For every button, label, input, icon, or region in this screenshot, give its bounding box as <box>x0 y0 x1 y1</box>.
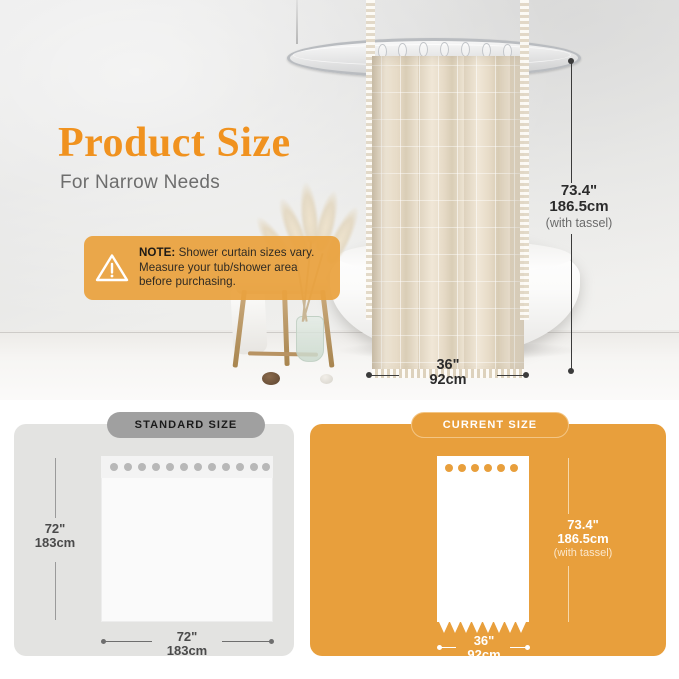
hero-width-inches: 36" <box>398 358 498 373</box>
grommet-icon <box>497 464 505 472</box>
note-text: NOTE: Shower curtain sizes vary. Measure… <box>139 246 330 290</box>
grommet-icon <box>445 464 453 472</box>
tassel-icon <box>505 622 515 633</box>
curtain-ring <box>419 42 428 57</box>
pebble <box>320 374 333 384</box>
grommet-icon <box>208 463 216 471</box>
curtain-ring <box>461 42 470 57</box>
current-height-line <box>568 458 569 514</box>
current-width-inches: 36" <box>455 634 513 648</box>
standard-width-line <box>222 641 270 642</box>
page-title: Product Size <box>58 119 291 167</box>
tassel-icon <box>494 622 504 633</box>
standard-height-line <box>55 562 56 620</box>
hero-width-cm: 92cm <box>398 373 498 388</box>
grommet-icon <box>166 463 174 471</box>
tassel-icon <box>516 622 526 633</box>
tassel-icon <box>461 622 471 633</box>
current-size-badge: CURRENT SIZE <box>411 412 569 438</box>
standard-width-label: 72" 183cm <box>154 630 220 658</box>
grommet-icon <box>194 463 202 471</box>
current-curtain-diagram <box>437 456 529 622</box>
standard-size-badge: STANDARD SIZE <box>107 412 265 438</box>
tassel-icon <box>483 622 493 633</box>
tassel-icon <box>472 622 482 633</box>
glass-vase <box>296 316 324 362</box>
current-height-label: 73.4" 186.5cm (with tassel) <box>528 518 638 560</box>
grommet-icon <box>180 463 188 471</box>
grommet-icon <box>138 463 146 471</box>
pinecone <box>262 372 280 385</box>
note-label: NOTE: <box>139 246 175 259</box>
grommet-icon <box>124 463 132 471</box>
height-measure-line <box>571 61 572 183</box>
grommet-icon <box>458 464 466 472</box>
hero-height-cm: 186.5cm <box>518 199 640 215</box>
hero-height-inches: 73.4" <box>518 183 640 199</box>
curtain-ring <box>440 42 449 57</box>
grommet-icon <box>484 464 492 472</box>
standard-curtain-diagram <box>101 456 273 622</box>
standard-width-inches: 72" <box>154 630 220 644</box>
measure-endpoint-dot <box>568 368 574 374</box>
hero-height-qualifier: (with tassel) <box>518 215 640 231</box>
standard-height-inches: 72" <box>22 522 88 536</box>
current-height-inches: 73.4" <box>528 518 638 532</box>
standard-height-label: 72" 183cm <box>22 522 88 550</box>
floor-wall-line <box>0 332 679 333</box>
measure-endpoint-dot <box>525 645 530 650</box>
warning-triangle-icon <box>94 252 130 284</box>
grommet-icon <box>110 463 118 471</box>
current-height-qualifier: (with tassel) <box>528 546 638 560</box>
measure-endpoint-dot <box>269 639 274 644</box>
hero-photo-scene: 73.4" 186.5cm (with tassel) 36" 92cm Pro… <box>0 0 679 400</box>
curtain-fringe-right <box>520 0 529 320</box>
grommet-icon <box>510 464 518 472</box>
height-measure-line <box>571 234 572 370</box>
width-measure-line <box>369 375 399 376</box>
measure-endpoint-dot <box>523 372 529 378</box>
current-height-line <box>568 566 569 622</box>
width-measure-line <box>497 375 525 376</box>
grommet-icon <box>236 463 244 471</box>
hero-height-label: 73.4" 186.5cm (with tassel) <box>518 183 640 231</box>
tassel-icon <box>450 622 460 633</box>
product-size-infographic: 73.4" 186.5cm (with tassel) 36" 92cm Pro… <box>0 0 679 679</box>
current-height-cm: 186.5cm <box>528 532 638 546</box>
page-subtitle: For Narrow Needs <box>60 172 220 194</box>
standard-width-cm: 183cm <box>154 644 220 658</box>
grommet-icon <box>262 463 270 471</box>
rod-support-wire <box>296 0 298 44</box>
note-callout: NOTE: Shower curtain sizes vary. Measure… <box>84 236 340 300</box>
grommet-icon <box>471 464 479 472</box>
standard-height-line <box>55 458 56 518</box>
grommet-icon <box>152 463 160 471</box>
hero-width-label: 36" 92cm <box>398 358 498 388</box>
grommet-icon <box>222 463 230 471</box>
floor <box>0 330 679 400</box>
current-width-line <box>440 647 456 648</box>
current-width-label: 36" 92cm <box>455 634 513 662</box>
tassel-icon <box>439 622 449 633</box>
shower-curtain-photo <box>372 56 524 376</box>
standard-width-line <box>104 641 152 642</box>
current-width-cm: 92cm <box>455 648 513 662</box>
standard-height-cm: 183cm <box>22 536 88 550</box>
grommet-icon <box>250 463 258 471</box>
